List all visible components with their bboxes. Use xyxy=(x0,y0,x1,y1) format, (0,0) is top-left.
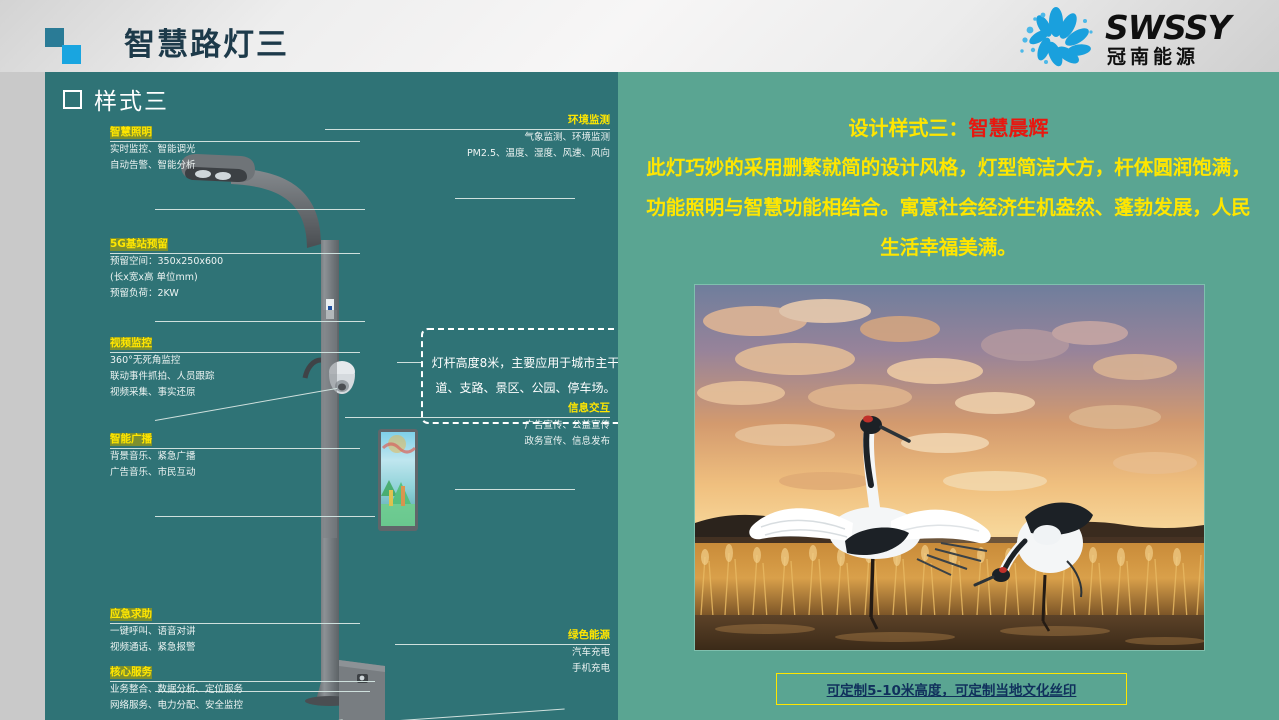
callout-core-service: 核心服务 业务整合、数据分析、定位服务 网络服务、电力分配、安全监控 xyxy=(110,662,375,714)
callout-title: 核心服务 xyxy=(110,666,152,679)
callout-emergency-help: 应急求助 一键呼叫、语音对讲 视频通话、紧急报警 xyxy=(110,604,360,656)
page-title: 智慧路灯三 xyxy=(124,19,289,64)
callout-title: 应急求助 xyxy=(110,608,152,621)
callout-line: 网络服务、电力分配、安全监控 xyxy=(110,698,375,714)
leader-line xyxy=(455,489,575,490)
callout-line: 实时监控、智能调光 xyxy=(110,142,360,158)
callout-line: (长x宽x高 单位mm) xyxy=(110,270,360,286)
callout-line: 联动事件抓拍、人员跟踪 xyxy=(110,369,360,385)
callout-video-surveillance: 视频监控 360°无死角监控 联动事件抓拍、人员跟踪 视频采集、事实还原 xyxy=(110,333,360,401)
callout-environment-monitor: 环境监测 气象监测、环境监测 PM2.5、温度、湿度、风速、风向 xyxy=(325,110,610,162)
callout-smart-broadcast: 智能广播 背景音乐、紧急广播 广告音乐、市民互动 xyxy=(110,429,360,481)
callout-line: 视频采集、事实还原 xyxy=(110,385,360,401)
square-bright-icon xyxy=(62,45,81,64)
left-panel: 样式三 智慧照明 实时监控、智能调光 自动告警、智能分析 5G基站预留 预留空间… xyxy=(45,72,618,720)
callout-line: 自动告警、智能分析 xyxy=(110,158,360,174)
callout-line: 视频通话、紧急报警 xyxy=(110,640,360,656)
leader-line xyxy=(455,198,575,199)
style-label: 样式三 xyxy=(94,82,169,116)
leader-line xyxy=(155,209,365,210)
info-callout-box: 灯杆高度8米，主要应用于城市主干道、支路、景区、公园、停车场。 xyxy=(421,328,618,424)
design-style-title-prefix: 设计样式三： xyxy=(849,116,969,140)
callout-line: 360°无死角监控 xyxy=(110,353,360,369)
design-style-title: 设计样式三：智慧晨辉 xyxy=(618,112,1279,141)
decor-squares-icon xyxy=(45,28,87,62)
callout-line: 气象监测、环境监测 xyxy=(325,130,610,146)
callout-title: 智慧照明 xyxy=(110,126,152,139)
callout-title: 绿色能源 xyxy=(568,629,610,642)
square-outline-icon xyxy=(63,90,82,109)
callout-line: PM2.5、温度、湿度、风速、风向 xyxy=(325,146,610,162)
crane-sunset-photo xyxy=(694,284,1205,651)
brand-subtitle: 冠南能源 xyxy=(1107,42,1199,69)
info-callout-text: 灯杆高度8米，主要应用于城市主干道、支路、景区、公园、停车场。 xyxy=(431,351,618,401)
callout-title: 环境监测 xyxy=(568,114,610,127)
callout-5g-reserve: 5G基站预留 预留空间：350x250x600 (长x宽x高 单位mm) 预留负… xyxy=(110,234,360,302)
callout-title: 智能广播 xyxy=(110,433,152,446)
callout-green-energy: 绿色能源 汽车充电 手机充电 xyxy=(395,625,610,677)
leader-line xyxy=(155,516,375,517)
customization-note-text: 可定制5-10米高度，可定制当地文化丝印 xyxy=(827,679,1077,699)
callout-title: 5G基站预留 xyxy=(110,238,168,251)
callout-line: 手机充电 xyxy=(395,661,610,677)
callout-line: 业务整合、数据分析、定位服务 xyxy=(110,682,375,698)
callout-line: 预留空间：350x250x600 xyxy=(110,254,360,270)
callout-smart-lighting: 智慧照明 实时监控、智能调光 自动告警、智能分析 xyxy=(110,122,360,174)
callout-line: 汽车充电 xyxy=(395,645,610,661)
brand-logo: SWSSY 冠南能源 xyxy=(1013,4,1273,70)
callout-line: 一键呼叫、语音对讲 xyxy=(110,624,360,640)
style-heading: 样式三 xyxy=(63,82,169,116)
callout-line: 广告音乐、市民互动 xyxy=(110,465,360,481)
customization-note-box: 可定制5-10米高度，可定制当地文化丝印 xyxy=(776,673,1127,705)
leader-line xyxy=(155,321,365,322)
design-description: 此灯巧妙的采用删繁就简的设计风格，灯型简洁大方，杆体圆润饱满，功能照明与智慧功能… xyxy=(642,148,1255,268)
slide-header: 智慧路灯三 xyxy=(0,0,1279,72)
callout-line: 背景音乐、紧急广播 xyxy=(110,449,360,465)
callout-line: 预留负荷：2KW xyxy=(110,286,360,302)
design-style-title-name: 智慧晨辉 xyxy=(969,116,1049,140)
callout-line: 政务宣传、信息发布 xyxy=(345,434,610,450)
flower-petals-icon xyxy=(1013,6,1099,68)
right-panel: 设计样式三：智慧晨辉 此灯巧妙的采用删繁就简的设计风格，灯型简洁大方，杆体圆润饱… xyxy=(618,72,1279,720)
slide-root: 智慧路灯三 xyxy=(0,0,1279,720)
leader-line xyxy=(397,362,422,363)
callout-title: 视频监控 xyxy=(110,337,152,350)
